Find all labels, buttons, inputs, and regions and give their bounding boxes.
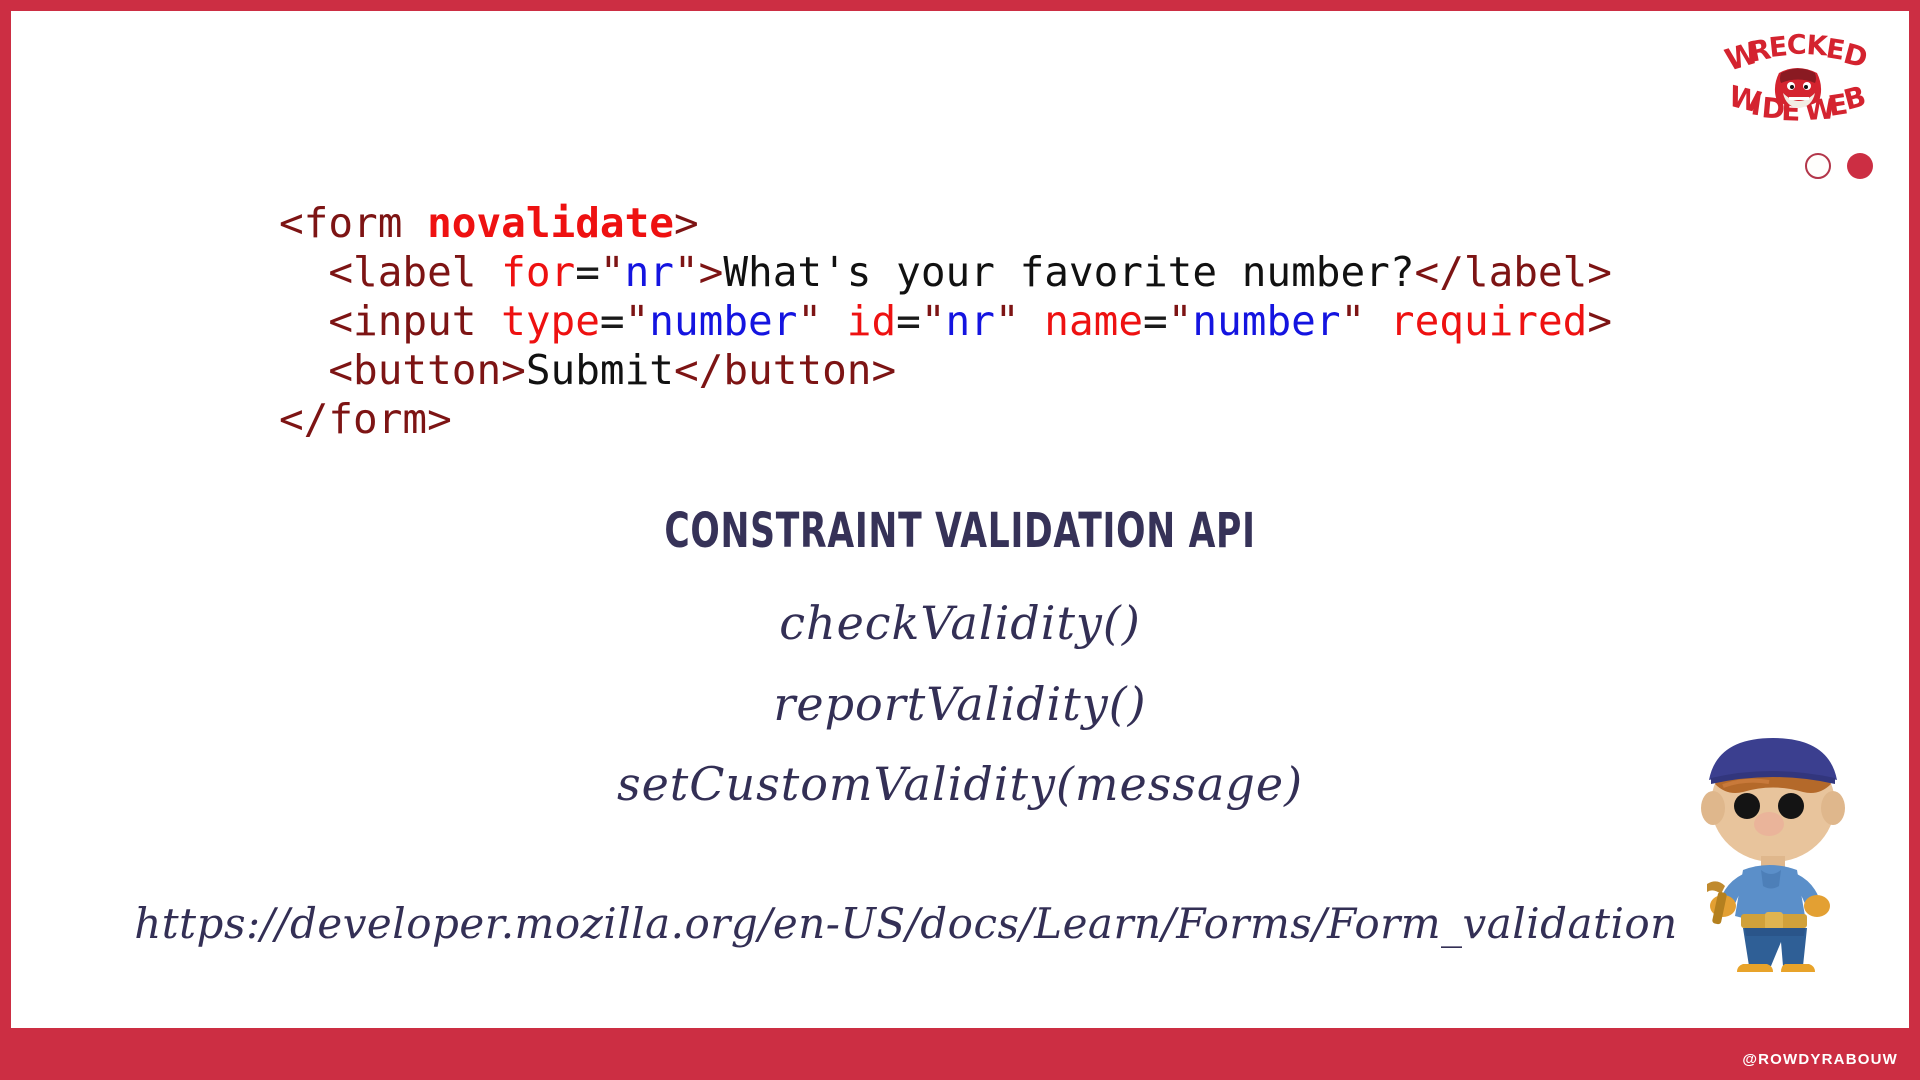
code-token: </form> <box>279 395 452 443</box>
code-token: " <box>797 297 822 345</box>
code-token: = <box>600 297 625 345</box>
code-token: nr <box>946 297 995 345</box>
code-token: What's your favorite number? <box>723 248 1414 296</box>
code-line: <button>Submit</button> <box>279 346 1612 395</box>
author-handle: @ROWDYRABOUW <box>1742 1051 1898 1068</box>
code-token: " <box>1168 297 1193 345</box>
code-token: number <box>1192 297 1340 345</box>
code-token: = <box>896 297 921 345</box>
api-method-setcustomvalidity: setCustomValidity(message) <box>11 757 1909 811</box>
code-token: type <box>501 297 600 345</box>
slide-root: W R E C K E D W I D E W E B <box>0 0 1920 1080</box>
progress-dots <box>1805 153 1873 179</box>
wrecked-wide-web-logo: W R E C K E D W I D E W E B <box>1717 33 1881 137</box>
code-token: > <box>699 248 724 296</box>
code-token: nr <box>625 248 674 296</box>
code-line: <input type="number" id="nr" name="numbe… <box>279 297 1612 346</box>
code-token: " <box>921 297 946 345</box>
code-token: </button> <box>674 346 896 394</box>
code-token: > <box>674 199 699 247</box>
code-token: " <box>674 248 699 296</box>
code-token: name <box>1044 297 1143 345</box>
code-token: <input <box>328 297 501 345</box>
code-line: <label for="nr">What's your favorite num… <box>279 248 1612 297</box>
code-token <box>1365 297 1390 345</box>
ralph-face-icon <box>1775 68 1821 108</box>
page-title: CONSTRAINT VALIDATION API <box>277 503 1644 559</box>
code-token: " <box>1341 297 1366 345</box>
code-token: = <box>575 248 600 296</box>
code-token: = <box>1143 297 1168 345</box>
code-token: Submit <box>526 346 674 394</box>
code-token <box>822 297 847 345</box>
code-token: " <box>995 297 1020 345</box>
code-token: <label <box>328 248 501 296</box>
progress-dot-1[interactable] <box>1805 153 1831 179</box>
code-token: required <box>1390 297 1587 345</box>
code-token: <button> <box>328 346 525 394</box>
code-token: id <box>847 297 896 345</box>
fix-it-felix-funko-figure <box>1665 726 1895 976</box>
progress-dot-2[interactable] <box>1847 153 1873 179</box>
mdn-reference-url[interactable]: https://developer.mozilla.org/en-US/docs… <box>11 899 1801 948</box>
svg-text:C: C <box>1787 33 1807 61</box>
code-token: > <box>1587 297 1612 345</box>
code-line: </form> <box>279 395 1612 444</box>
code-token: for <box>501 248 575 296</box>
api-method-reportvalidity: reportValidity() <box>11 677 1909 731</box>
api-method-checkvalidity: checkValidity() <box>11 596 1909 650</box>
code-line: <form novalidate> <box>279 199 1612 248</box>
code-token: number <box>649 297 797 345</box>
code-token: " <box>600 248 625 296</box>
html-code-snippet: <form novalidate> <label for="nr">What's… <box>279 199 1612 444</box>
code-token: " <box>625 297 650 345</box>
code-token: novalidate <box>427 199 674 247</box>
code-token: </label> <box>1415 248 1612 296</box>
slide-canvas: W R E C K E D W I D E W E B <box>11 11 1909 1028</box>
code-token: <form <box>279 199 427 247</box>
code-token <box>1020 297 1045 345</box>
footer-bar: @ROWDYRABOUW <box>0 1028 1920 1080</box>
